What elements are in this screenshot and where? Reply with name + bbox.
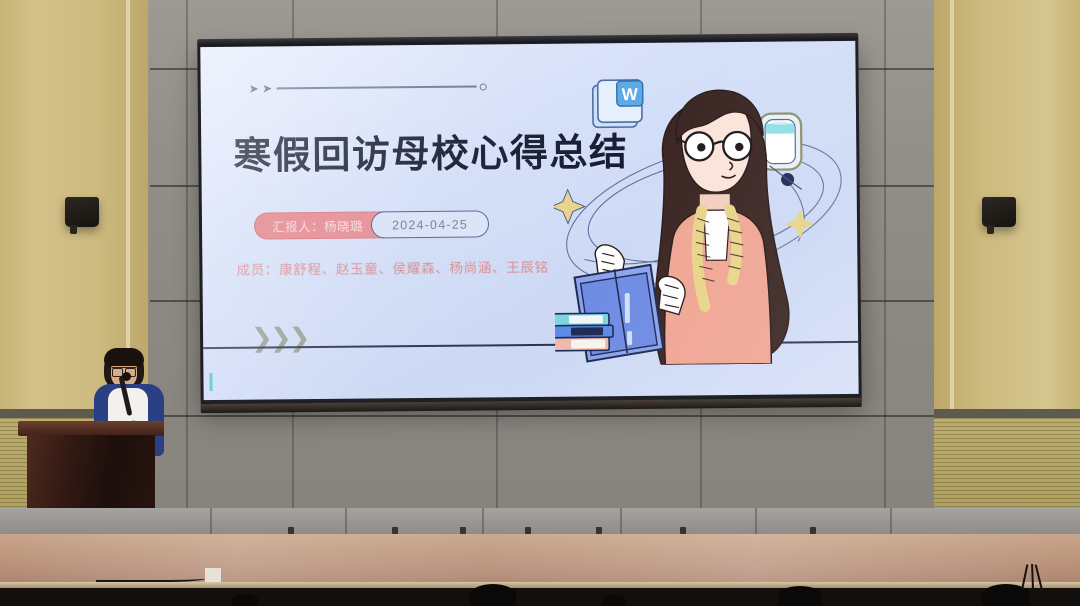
- book-stack-icon: [552, 313, 613, 351]
- double-arrow-icon: ➤ ➤: [249, 82, 273, 94]
- presenter-fringe: [104, 348, 144, 366]
- svg-text:W: W: [622, 85, 639, 104]
- sparkle-star-icon: [552, 189, 585, 223]
- column-edge-right: [950, 0, 954, 430]
- date-badge: 2024-04-25: [371, 210, 489, 238]
- decor-circle-endpoint: [480, 83, 487, 90]
- sparkle-star-icon: [802, 239, 822, 259]
- audience-head: [232, 594, 258, 606]
- podium-top: [18, 421, 164, 436]
- wall-seam-vertical: [186, 0, 188, 530]
- illustration-girl-reading: W: [552, 61, 855, 366]
- microphone-head-icon: [122, 372, 131, 381]
- slide-corner-accent: [209, 373, 212, 391]
- slide-top-decoration: ➤ ➤: [249, 80, 488, 94]
- eye-right: [735, 143, 743, 151]
- wall-speaker-right: [982, 197, 1016, 227]
- wall-speaker-left: [65, 197, 99, 227]
- stage-apron: [0, 588, 1080, 606]
- stage-back-skirting: [0, 508, 1080, 536]
- auditorium-stage-scene: ➤ ➤ 寒假回访母校心得总结 汇报人：杨晓璐 2024-04-25 成员：康舒程…: [0, 0, 1080, 606]
- projection-screen: ➤ ➤ 寒假回访母校心得总结 汇报人：杨晓璐 2024-04-25 成员：康舒程…: [197, 38, 861, 407]
- hand-right: [658, 276, 685, 315]
- audience-head: [470, 584, 516, 606]
- floor-cable: [96, 573, 206, 582]
- sparkle-star-icon: [785, 209, 814, 238]
- slide-badge-row: 汇报人：杨晓璐 2024-04-25: [254, 210, 489, 239]
- eye-left: [697, 143, 705, 151]
- audience-head: [778, 586, 822, 606]
- tripod-stand: [1019, 562, 1045, 590]
- wall-seam-vertical: [884, 0, 886, 530]
- word-document-icon: W: [593, 80, 643, 127]
- slide-content: ➤ ➤ 寒假回访母校心得总结 汇报人：杨晓璐 2024-04-25 成员：康舒程…: [200, 41, 858, 400]
- decor-rule-line: [277, 86, 477, 89]
- audience-head: [602, 595, 626, 606]
- members-line: 成员：康舒程、赵玉童、侯耀森、杨尚涵、王辰铭: [236, 256, 549, 279]
- wall-seam-horizontal: [150, 415, 940, 417]
- projected-slide: ➤ ➤ 寒假回访母校心得总结 汇报人：杨晓璐 2024-04-25 成员：康舒程…: [200, 41, 858, 400]
